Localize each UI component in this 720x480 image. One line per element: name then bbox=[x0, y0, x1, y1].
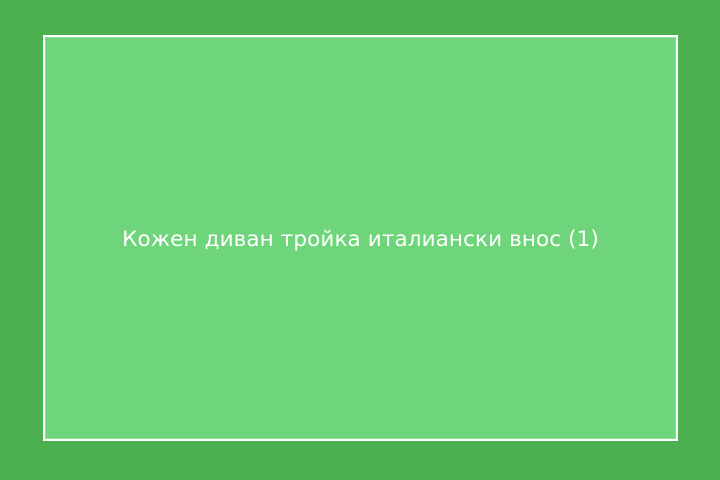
image-placeholder-canvas: Кожен диван тройка италиански внос (1) bbox=[0, 0, 720, 480]
placeholder-caption: Кожен диван тройка италиански внос (1) bbox=[110, 227, 611, 254]
image-placeholder-panel[interactable]: Кожен диван тройка италиански внос (1) bbox=[43, 35, 678, 441]
